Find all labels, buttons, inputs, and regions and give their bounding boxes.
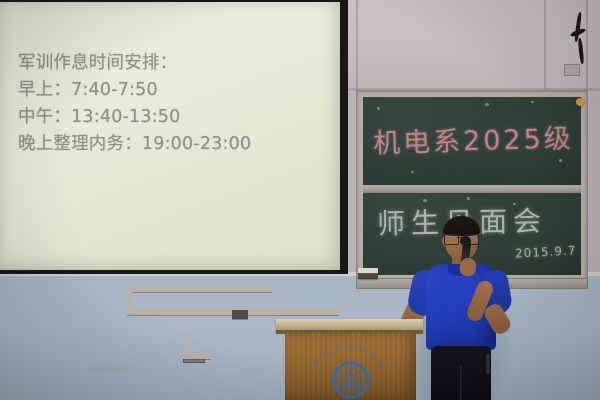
svg-text:业: 业 (367, 351, 377, 362)
screen-line-evening: 晚上整理内务：19:00-23:00 (18, 131, 328, 158)
screen-line-noon: 中午：13:40-13:50 (18, 104, 328, 131)
svg-text:工: 工 (334, 344, 343, 353)
classroom-photo: 军训作息时间安排： 早上：7:40-7:50 中午：13:40-13:50 晚上… (0, 0, 600, 400)
projection-screen-frame: 军训作息时间安排： 早上：7:40-7:50 中午：13:40-13:50 晚上… (0, 0, 348, 274)
blackboard-divider (363, 185, 581, 193)
wall-seam (544, 0, 546, 96)
blackboard-title-text: 机电系2025级 (373, 116, 575, 160)
screen-line-title: 军训作息时间安排： (18, 50, 328, 77)
blackboard-date-text: 2015.9.7 (515, 243, 577, 260)
school-emblem: 山 东 工 业 职 业 学 (310, 344, 392, 398)
blackboard-knob (576, 98, 584, 106)
wall-seam (356, 0, 358, 96)
screen-line-morning: 早上：7:40-7:50 (18, 77, 328, 104)
speaker-hair (443, 216, 480, 236)
microphone-head (460, 236, 471, 246)
projection-screen-text: 军训作息时间安排： 早上：7:40-7:50 中午：13:40-13:50 晚上… (18, 50, 328, 158)
wall-outlet (564, 64, 580, 76)
svg-text:职: 职 (358, 345, 366, 354)
podium: 山 东 工 业 职 业 学 (285, 333, 416, 400)
pants-seam (460, 366, 462, 400)
rail-bracket (232, 310, 248, 319)
projection-screen: 军训作息时间安排： 早上：7:40-7:50 中午：13:40-13:50 晚上… (0, 2, 340, 270)
blackboard-rail (183, 353, 211, 359)
svg-text:业: 业 (347, 344, 354, 351)
svg-text:学: 学 (376, 360, 387, 371)
hanging-cable (568, 12, 590, 68)
chalk-eraser (358, 268, 378, 279)
speaker (400, 214, 518, 400)
blackboard-rail (127, 286, 272, 292)
svg-text:东: 东 (321, 349, 331, 360)
svg-text:山: 山 (310, 356, 321, 367)
blackboard-top-panel: 机电系2025级 (363, 97, 581, 187)
pants-stripe (486, 354, 490, 374)
